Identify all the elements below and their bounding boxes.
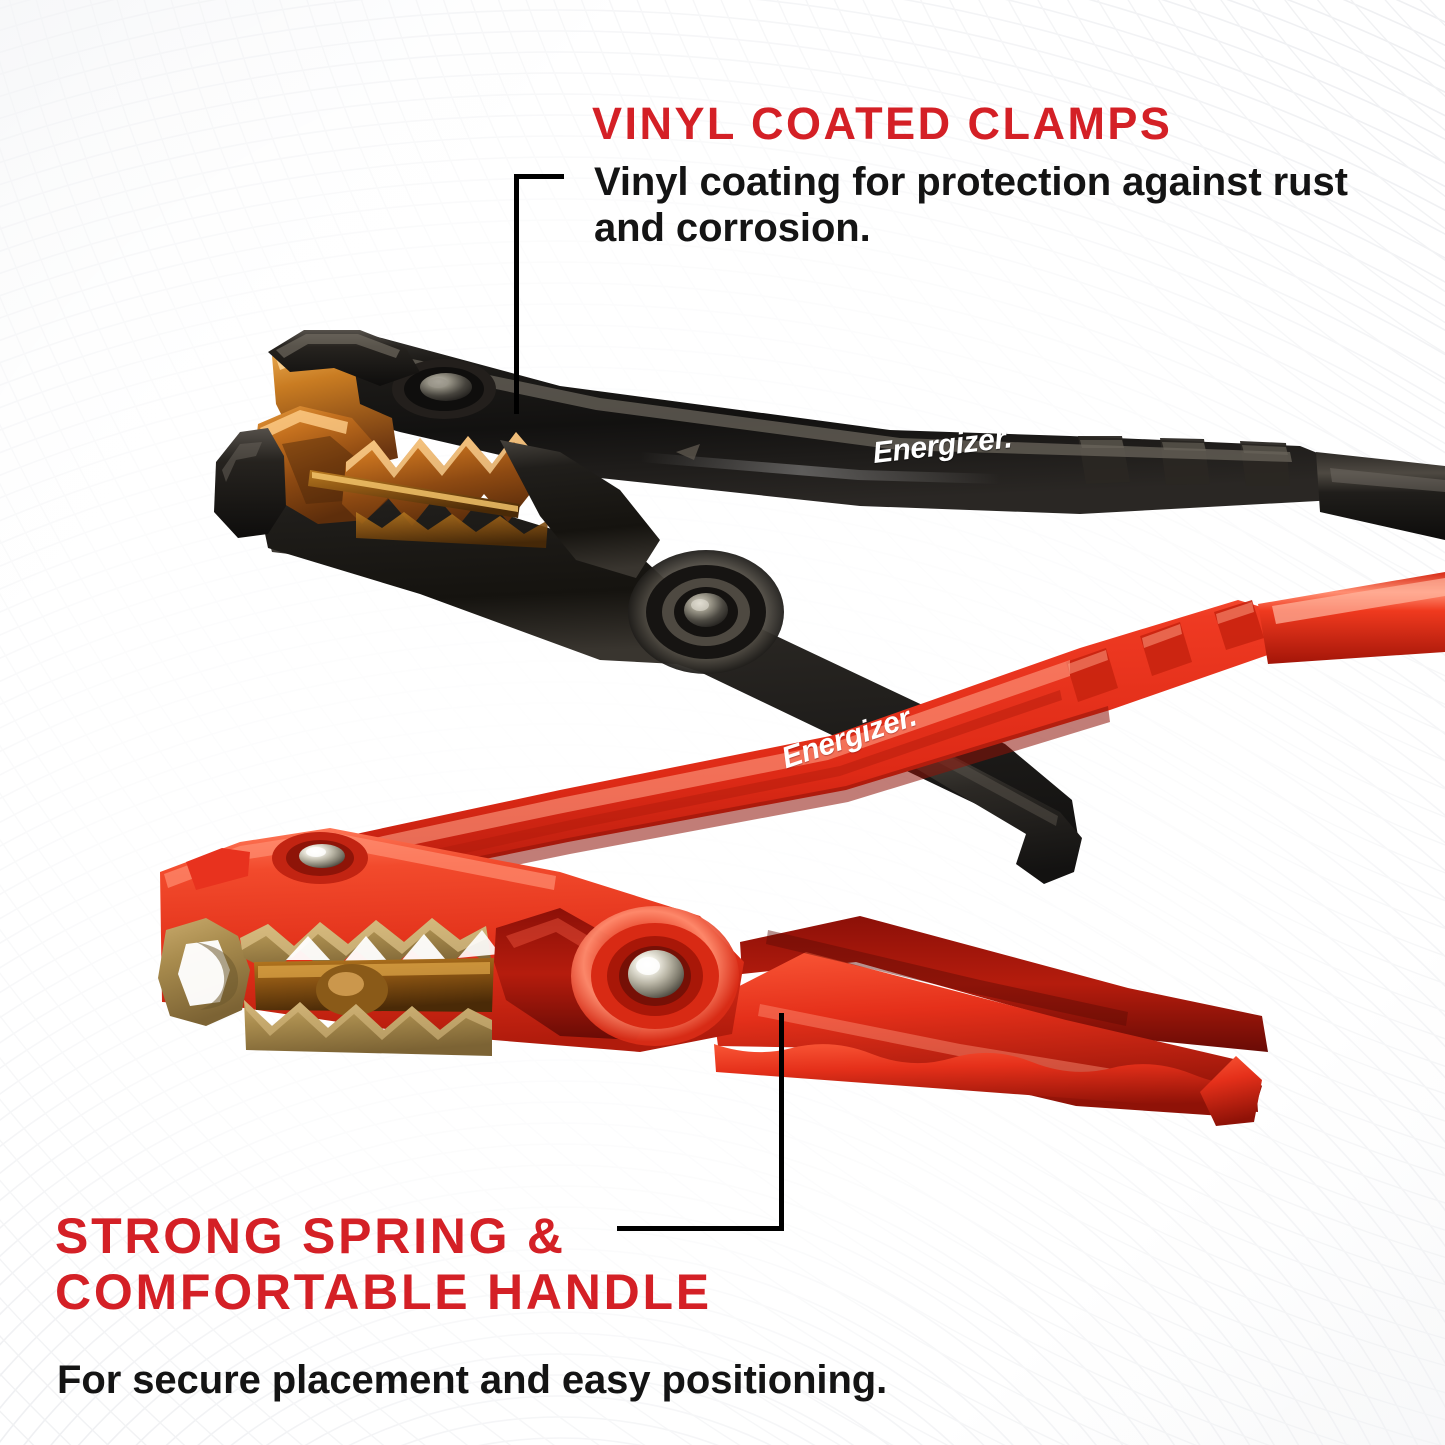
black-clamp-pivot-rivet xyxy=(684,593,728,627)
red-clamp-pivot-rivet-glint xyxy=(636,957,660,975)
black-clamp-thumb-boss-inner xyxy=(420,373,472,401)
callout-body-strong-spring: For secure placement and easy positionin… xyxy=(57,1357,1107,1403)
black-clamp-cable xyxy=(1316,452,1445,540)
callout-headline-vinyl-coated-clamps: VINYL COATED CLAMPS xyxy=(592,100,1172,148)
black-clamp-thumb-boss-glint xyxy=(428,378,448,388)
red-clamp-thumb-boss-glint xyxy=(306,847,326,857)
infographic-canvas: Energizer. Energizer. VINYL COATED CLAMP… xyxy=(0,0,1445,1445)
callout-leader-top-horizontal xyxy=(514,174,564,179)
red-clamp-jaw-rivet-glint xyxy=(328,972,364,996)
callout-leader-top-vertical xyxy=(514,174,519,414)
callout-headline-strong-spring: STRONG SPRING & COMFORTABLE HANDLE xyxy=(55,1208,712,1320)
callout-body-vinyl-coated-clamps: Vinyl coating for protection against rus… xyxy=(594,159,1424,252)
callout-leader-bottom-vertical xyxy=(779,1013,784,1231)
black-clamp-pivot-rivet-glint xyxy=(691,599,709,611)
red-clamp-pivot-rivet xyxy=(628,950,684,998)
